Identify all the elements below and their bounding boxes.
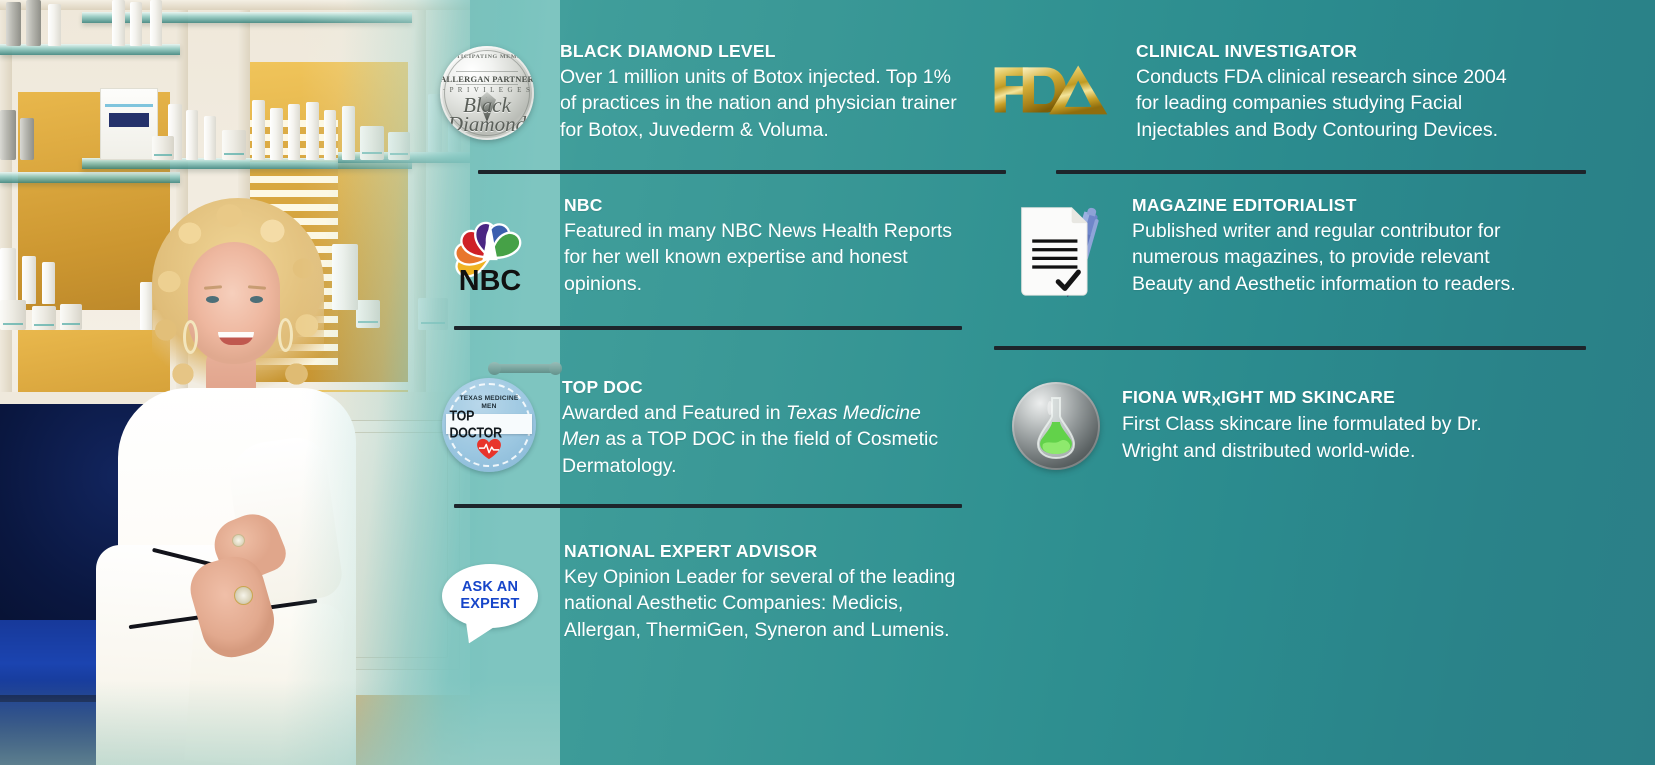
credential-nbc: NBC NBC Featured in many NBC News Health… <box>440 196 962 298</box>
credential-title: NATIONAL EXPERT ADVISOR <box>564 542 968 562</box>
credential-magazine-editorialist: MAGAZINE EDITORIALIST Published writer a… <box>980 196 1542 300</box>
credential-title: FIONA WRXIGHT MD SKINCARE <box>1122 388 1522 409</box>
credential-black-diamond-level: PARTICIPATING MEMBER ALLERGAN PARTNER · … <box>440 42 958 144</box>
skincare-flask-orb-icon <box>1012 382 1100 470</box>
credential-clinical-investigator: CLINICAL INVESTIGATOR Conducts FDA clini… <box>980 42 1528 144</box>
bubble-line1: ASK AN <box>462 579 518 596</box>
body-post: as a TOP DOC in the field of Cosmetic De… <box>562 428 938 477</box>
title-pre: FIONA WR <box>1122 387 1212 407</box>
credential-national-expert-advisor: ASK AN EXPERT NATIONAL EXPERT ADVISOR Ke… <box>440 542 968 644</box>
title-subscript: X <box>1212 393 1221 408</box>
body-pre: Awarded and Featured in <box>562 402 786 424</box>
fda-gold-logo <box>990 58 1110 124</box>
ask-an-expert-speech-bubble: ASK AN EXPERT <box>442 564 538 628</box>
coin-line1: ALLERGAN PARTNER <box>440 74 534 84</box>
allergan-black-diamond-coin-badge: PARTICIPATING MEMBER ALLERGAN PARTNER · … <box>440 46 534 140</box>
credential-title: NBC <box>564 196 962 216</box>
divider-1 <box>478 170 1006 174</box>
document-with-pen-icon <box>1008 200 1118 300</box>
credential-title: MAGAZINE EDITORIALIST <box>1132 196 1542 216</box>
coin-arc-text: PARTICIPATING MEMBER <box>440 54 534 60</box>
nbc-peacock-logo: NBC <box>442 198 538 294</box>
credential-body: Featured in many NBC News Health Reports… <box>564 218 962 298</box>
topdoc-band: TOP DOCTOR <box>446 414 532 434</box>
nbc-wordmark: NBC <box>459 265 522 294</box>
divider-4 <box>1056 170 1586 174</box>
coin-line3: Black Diamond <box>440 96 534 135</box>
credential-body: Published writer and regular contributor… <box>1132 218 1542 298</box>
credential-body: Key Opinion Leader for several of the le… <box>564 564 968 644</box>
heart-ekg-icon <box>476 438 502 465</box>
credential-body: Conducts FDA clinical research since 200… <box>1136 64 1528 144</box>
credential-body: Over 1 million units of Botox injected. … <box>560 64 958 144</box>
credential-body: First Class skincare line formulated by … <box>1122 411 1522 464</box>
credential-title: TOP DOC <box>562 378 960 398</box>
title-post: IGHT MD SKINCARE <box>1221 387 1395 407</box>
credential-title: CLINICAL INVESTIGATOR <box>1136 42 1528 62</box>
credential-body: Awarded and Featured in Texas Medicine M… <box>562 400 960 480</box>
divider-3 <box>454 504 962 508</box>
bubble-line2: EXPERT <box>460 596 519 613</box>
credentials-banner: PARTICIPATING MEMBER ALLERGAN PARTNER · … <box>0 0 1655 765</box>
texas-medicine-men-top-doctor-badge: TEXAS MEDICINE MEN TOP DOCTOR <box>442 378 536 472</box>
credential-top-doc: TEXAS MEDICINE MEN TOP DOCTOR TOP <box>440 378 960 480</box>
cabinet-handle <box>492 364 558 373</box>
credential-fiona-wright-md-skincare: FIONA WRXIGHT MD SKINCARE First Class sk… <box>980 382 1522 470</box>
credential-title: BLACK DIAMOND LEVEL <box>560 42 958 62</box>
divider-2 <box>454 326 962 330</box>
divider-5 <box>994 346 1586 350</box>
